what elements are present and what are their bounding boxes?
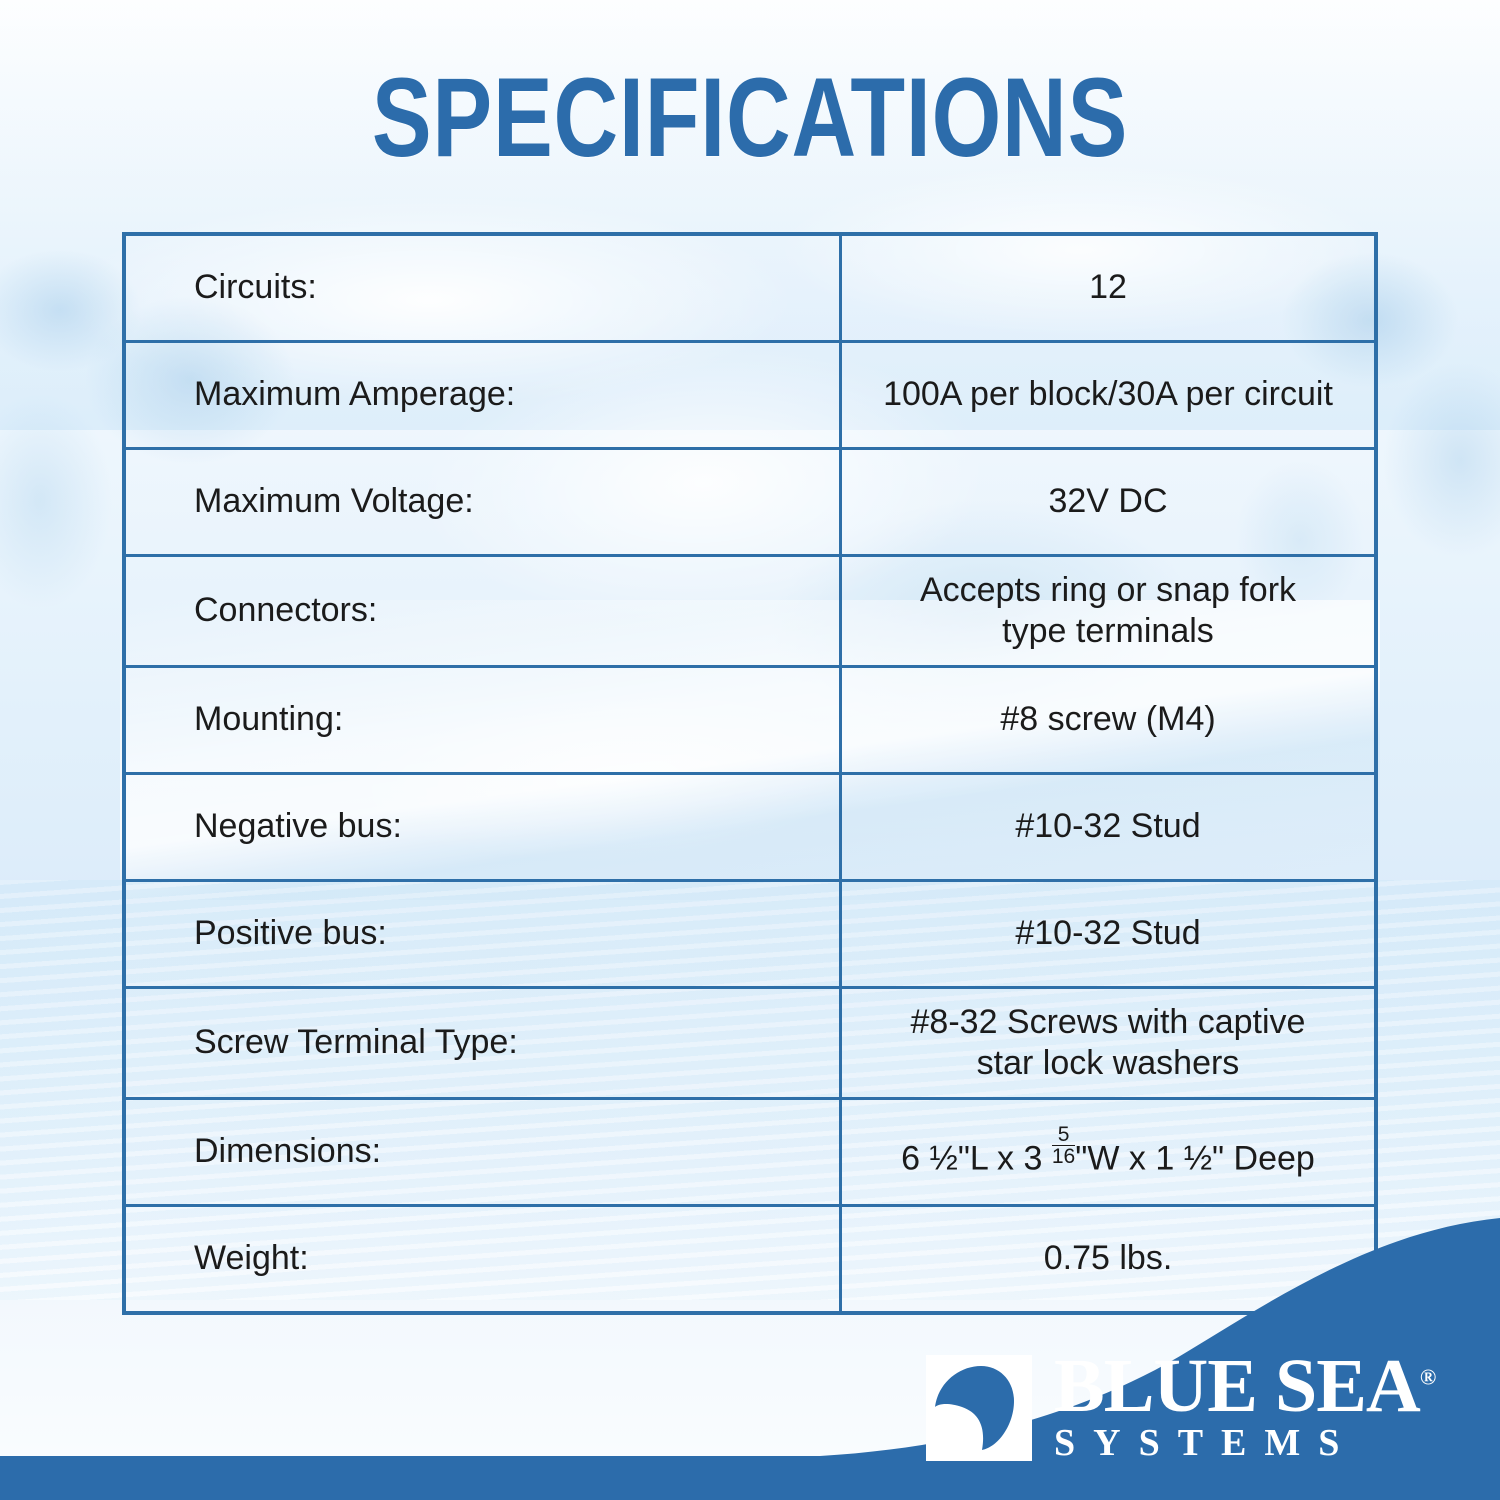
spec-label: Positive bus: [124, 881, 841, 988]
registered-trademark-icon: ® [1420, 1365, 1435, 1390]
brand-logo: BLUE SEA® SYSTEMS [926, 1352, 1435, 1464]
blue-sea-wave-mark-icon [926, 1355, 1032, 1461]
spec-label: Maximum Voltage: [124, 449, 841, 556]
table-row: Circuits: 12 [124, 234, 1376, 342]
spec-value: 100A per block/30A per circuit [841, 342, 1377, 449]
table-row: Dimensions: 6 ½"L x 3 516"W x 1 ½" Deep [124, 1099, 1376, 1206]
spec-label: Maximum Amperage: [124, 342, 841, 449]
fraction-denominator: 16 [1052, 1145, 1075, 1167]
spec-label: Negative bus: [124, 774, 841, 881]
specifications-page: SPECIFICATIONS Circuits: 12 Maximum Ampe… [0, 0, 1500, 1500]
spec-value: #10-32 Stud [841, 774, 1377, 881]
page-title: SPECIFICATIONS [150, 62, 1350, 174]
table-row: Screw Terminal Type: #8-32 Screws with c… [124, 988, 1376, 1099]
spec-value: 32V DC [841, 449, 1377, 556]
spec-label: Circuits: [124, 234, 841, 342]
table-row: Negative bus: #10-32 Stud [124, 774, 1376, 881]
spec-value: #8 screw (M4) [841, 667, 1377, 774]
table-row: Mounting: #8 screw (M4) [124, 667, 1376, 774]
dimensions-part-1: 6 ½"L x 3 [901, 1139, 1052, 1177]
brand-wordmark: BLUE SEA® SYSTEMS [1054, 1352, 1435, 1464]
table-row: Positive bus: #10-32 Stud [124, 881, 1376, 988]
fraction-numerator: 5 [1052, 1124, 1075, 1145]
spec-label: Screw Terminal Type: [124, 988, 841, 1099]
brand-line-1: BLUE SEA® [1054, 1352, 1435, 1422]
spec-value: 12 [841, 234, 1377, 342]
spec-value: #10-32 Stud [841, 881, 1377, 988]
table-row: Connectors: Accepts ring or snap forktyp… [124, 556, 1376, 667]
spec-value: #8-32 Screws with captivestar lock washe… [841, 988, 1377, 1099]
brand-name: BLUE SEA [1054, 1344, 1420, 1428]
dimensions-part-2: "W x 1 ½" Deep [1075, 1139, 1315, 1177]
table-row: Maximum Voltage: 32V DC [124, 449, 1376, 556]
spec-value-dimensions: 6 ½"L x 3 516"W x 1 ½" Deep [841, 1099, 1377, 1206]
wave-glyph-icon [926, 1355, 1032, 1461]
spec-value: Accepts ring or snap forktype terminals [841, 556, 1377, 667]
fraction-five-sixteenths: 516 [1052, 1124, 1075, 1167]
brand-line-2: SYSTEMS [1054, 1424, 1435, 1464]
spec-label: Mounting: [124, 667, 841, 774]
spec-label: Dimensions: [124, 1099, 841, 1206]
table-row: Maximum Amperage: 100A per block/30A per… [124, 342, 1376, 449]
spec-label: Connectors: [124, 556, 841, 667]
specifications-table: Circuits: 12 Maximum Amperage: 100A per … [122, 232, 1378, 1315]
